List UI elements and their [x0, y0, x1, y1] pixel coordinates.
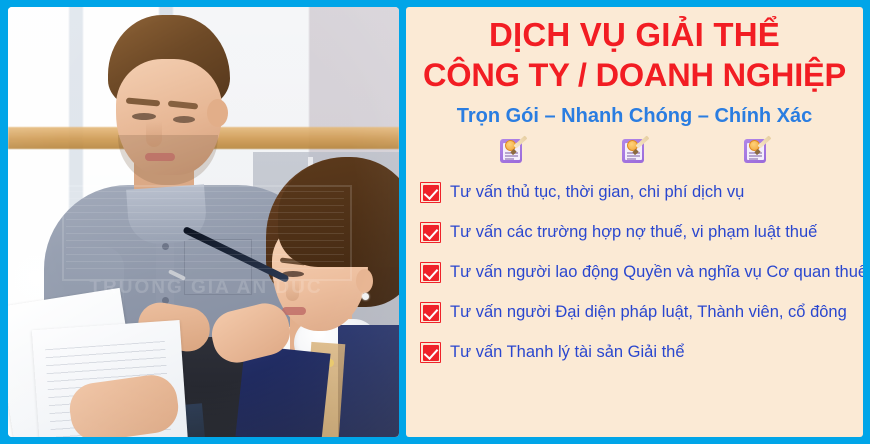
headline-line-2: CÔNG TY / DOANH NGHIỆP	[412, 55, 857, 95]
memo-line	[505, 155, 518, 157]
man-ear	[207, 99, 228, 127]
list-item: Tư vấn thủ tục, thời gian, chi phí dịch …	[420, 180, 859, 206]
list-item-label: Tư vấn Thanh lý tài sản Giải thể	[450, 340, 685, 364]
promo-banner: TRUONG GIA AN DUC DỊCH VỤ GIẢI THỂ CÔNG …	[0, 0, 870, 444]
memo-line	[749, 158, 758, 160]
memo-line	[749, 155, 762, 157]
list-item-label: Tư vấn các trường hợp nợ thuế, vi phạm l…	[450, 220, 817, 244]
list-item-label: Tư vấn người Đại diện pháp luật, Thành v…	[450, 300, 847, 324]
headline-line-1: DỊCH VỤ GIẢI THỂ	[412, 15, 857, 55]
memo-line	[627, 158, 636, 160]
list-item: Tư vấn người Đại diện pháp luật, Thành v…	[420, 300, 859, 326]
man-eye	[132, 113, 156, 120]
woman-nose	[286, 279, 299, 301]
memo-icon	[622, 138, 648, 164]
checkbox-checked-icon	[420, 262, 441, 283]
checkbox-checked-icon	[420, 342, 441, 363]
hero-photo: TRUONG GIA AN DUC	[8, 7, 399, 437]
checkbox-checked-icon	[420, 222, 441, 243]
checkbox-checked-icon	[420, 182, 441, 203]
content-panel: DỊCH VỤ GIẢI THỂ CÔNG TY / DOANH NGHIỆP …	[406, 7, 863, 437]
memo-line	[627, 155, 640, 157]
memo-icon	[744, 138, 770, 164]
woman-ear	[356, 269, 373, 293]
list-item: Tư vấn các trường hợp nợ thuế, vi phạm l…	[420, 220, 859, 246]
headline-block: DỊCH VỤ GIẢI THỂ CÔNG TY / DOANH NGHIỆP	[406, 7, 863, 95]
woman-earring	[362, 293, 369, 300]
checkbox-checked-icon	[420, 302, 441, 323]
list-item-label: Tư vấn người lao động Quyền và nghĩa vụ …	[450, 260, 863, 284]
man-mouth	[145, 153, 175, 161]
woman-jacket-right	[338, 325, 399, 437]
man-eye	[173, 116, 195, 123]
list-item-label: Tư vấn thủ tục, thời gian, chi phí dịch …	[450, 180, 744, 204]
list-item: Tư vấn người lao động Quyền và nghĩa vụ …	[420, 260, 859, 286]
subtitle: Trọn Gói – Nhanh Chóng – Chính Xác	[406, 103, 863, 129]
woman-lips	[282, 307, 306, 315]
icon-row	[406, 138, 863, 168]
list-item: Tư vấn Thanh lý tài sản Giải thể	[420, 340, 859, 366]
benefits-list: Tư vấn thủ tục, thời gian, chi phí dịch …	[406, 180, 863, 437]
man-nose	[146, 121, 162, 147]
memo-icon	[500, 138, 526, 164]
memo-line	[505, 158, 514, 160]
man-shirt-button	[162, 243, 169, 250]
